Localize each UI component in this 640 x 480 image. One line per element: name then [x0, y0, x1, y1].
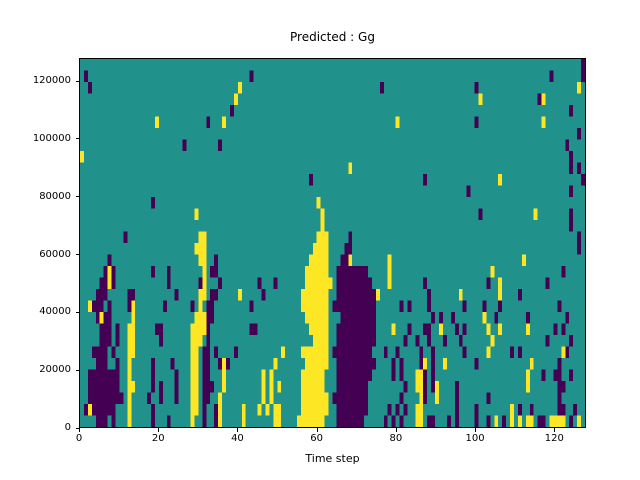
y-tick-label: 40000 — [39, 306, 71, 318]
x-tick-mark — [237, 428, 238, 432]
x-tick-mark — [317, 428, 318, 432]
x-axis-label: Time step — [79, 452, 586, 466]
y-tick: 20000 — [0, 364, 79, 376]
y-tick-label: 60000 — [39, 249, 71, 261]
y-tick: 40000 — [0, 306, 79, 318]
x-tick-mark — [396, 428, 397, 432]
x-tick-mark — [158, 428, 159, 432]
matplotlib-figure: Predicted : Gg Frequency (Hz) 0200004000… — [0, 0, 640, 480]
x-tick-label: 0 — [49, 433, 109, 445]
y-tick: 100000 — [0, 133, 79, 145]
heatmap-plot-area[interactable] — [79, 58, 586, 428]
x-tick-label: 20 — [128, 433, 188, 445]
y-tick: 60000 — [0, 249, 79, 261]
x-tick-label: 40 — [207, 433, 267, 445]
x-tick-label: 120 — [524, 433, 584, 445]
x-tick-label: 80 — [366, 433, 426, 445]
x-tick-label: 100 — [445, 433, 505, 445]
y-axis-ticks: 020000400006000080000100000120000 — [0, 0, 79, 480]
x-tick-mark — [475, 428, 476, 432]
y-tick: 80000 — [0, 191, 79, 203]
y-tick: 120000 — [0, 75, 79, 87]
x-tick-mark — [554, 428, 555, 432]
y-tick-label: 120000 — [33, 75, 71, 87]
y-tick-label: 20000 — [39, 364, 71, 376]
y-tick-label: 80000 — [39, 191, 71, 203]
x-tick-label: 60 — [287, 433, 347, 445]
page-title: Predicted : Gg — [79, 30, 586, 44]
x-tick-mark — [79, 428, 80, 432]
y-tick-label: 100000 — [33, 133, 71, 145]
heatmap-image — [80, 59, 585, 427]
